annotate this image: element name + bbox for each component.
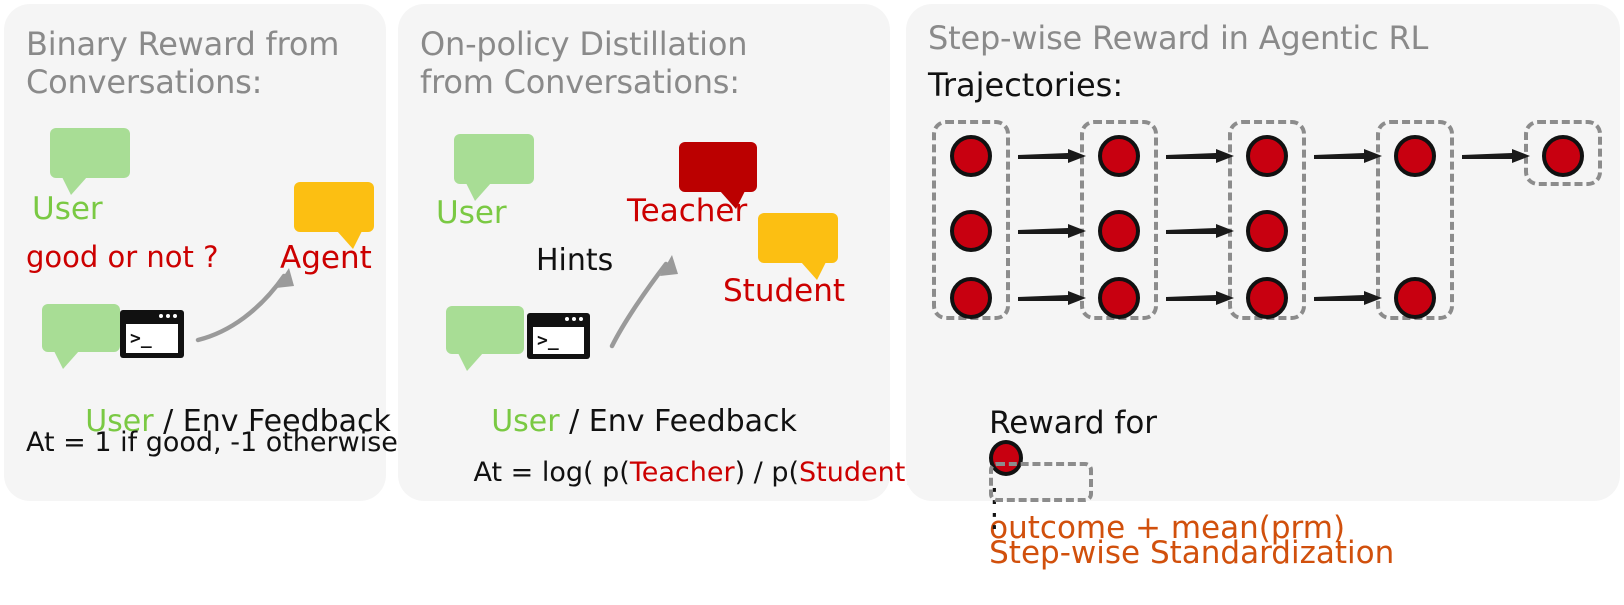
legend-value: Step-wise Standardization [989, 535, 1394, 571]
terminal-screen: >_ [126, 324, 178, 353]
terminal-icon: >_ [120, 310, 184, 358]
formula-part-1: Teacher [630, 457, 735, 488]
user-bubble [454, 134, 534, 184]
dashed-box-icon [989, 462, 1093, 502]
bubble-body [294, 182, 374, 232]
terminal-prompt: >_ [130, 330, 152, 348]
user-label: User [32, 192, 103, 226]
user-label: User [436, 196, 507, 230]
student-label: Student [723, 274, 845, 308]
terminal-screen: >_ [533, 327, 584, 354]
terminal-prompt: >_ [537, 332, 559, 350]
panel2-title: On-policy Distillation from Conversation… [420, 26, 870, 102]
bubble-body [42, 304, 120, 352]
formula-binary: At = 1 if good, -1 otherwise [26, 428, 398, 458]
bubble-body [446, 306, 524, 354]
formula-part-3: Student [799, 457, 905, 488]
env-user-bubble [446, 306, 524, 354]
panel-on-policy-distillation: On-policy Distillation from Conversation… [398, 4, 890, 501]
bubble-body [758, 213, 838, 263]
terminal-dots-icon [159, 314, 177, 318]
formula-distill: At = log( p(Teacher) / p(Student) ) [422, 428, 935, 517]
teacher-label: Teacher [627, 194, 747, 228]
terminal-dots-icon [565, 317, 583, 321]
panel1-title: Binary Reward from Conversations: [26, 26, 372, 102]
terminal-icon: >_ [527, 313, 590, 359]
bubble-body [679, 142, 757, 192]
agent-bubble [294, 182, 374, 232]
env-user-bubble [42, 304, 120, 352]
teacher-bubble [679, 142, 757, 192]
arrow-to-agent [190, 248, 310, 348]
panel-step-wise-reward: Step-wise Reward in Agentic RL Trajector… [906, 4, 1620, 501]
formula-part-2: ) / p( [735, 457, 799, 488]
figure-root: Binary Reward from Conversations: User A… [0, 0, 1624, 505]
panel-binary-reward: Binary Reward from Conversations: User A… [4, 4, 386, 501]
formula-part-0: At = log( p( [474, 457, 630, 488]
bubble-body [50, 128, 130, 178]
bubble-tail [458, 353, 483, 371]
bubble-tail [54, 351, 79, 369]
legend-colon: : [989, 501, 999, 537]
bubble-body [454, 134, 534, 184]
user-bubble [50, 128, 130, 178]
arrow-hints [590, 242, 710, 352]
standardization-legend-line: : Step-wise Standardization [930, 428, 1394, 604]
student-bubble [758, 213, 838, 263]
